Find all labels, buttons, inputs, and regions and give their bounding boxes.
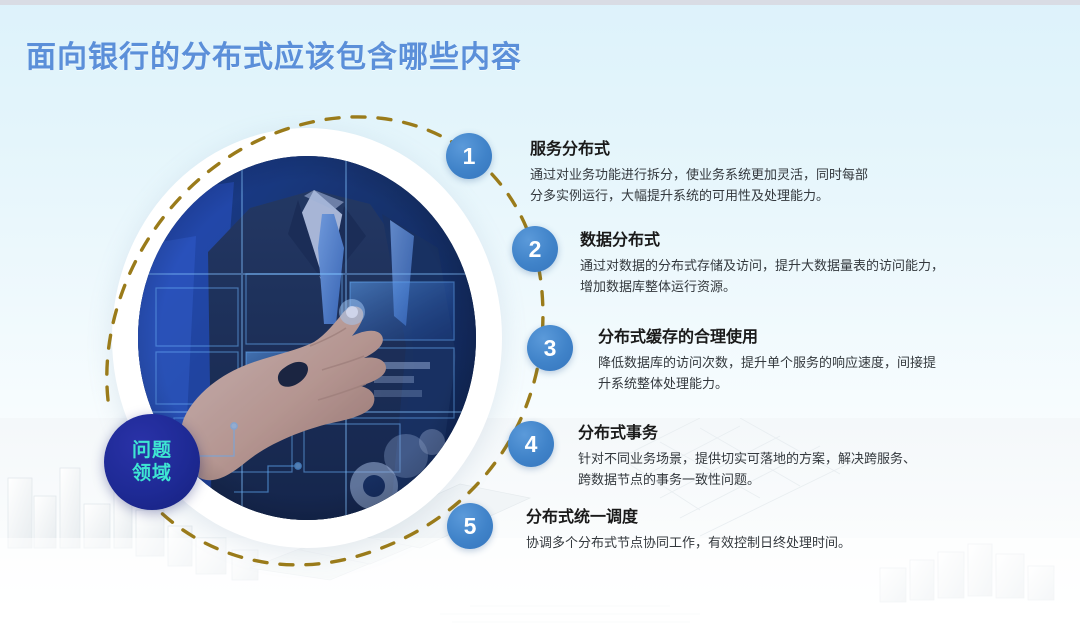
item-body-2: 通过对数据的分布式存储及访问，提升大数据量表的访问能力， 增加数据库整体运行资源…: [580, 255, 1000, 297]
top-edge-strip: [0, 0, 1080, 5]
item-text-2: 数据分布式 通过对数据的分布式存储及访问，提升大数据量表的访问能力， 增加数据库…: [580, 230, 1000, 297]
item-text-3: 分布式缓存的合理使用 降低数据库的访问次数，提升单个服务的响应速度，间接提 升系…: [598, 327, 998, 394]
number-badge-2: 2: [512, 226, 558, 272]
badge-line-1: 问题: [132, 439, 172, 462]
item-heading-3: 分布式缓存的合理使用: [598, 327, 998, 349]
page-title: 面向银行的分布式应该包含哪些内容: [26, 32, 522, 76]
items-list: 1 服务分布式 通过对业务功能进行拆分，使业务系统更加灵活，同时每部 分多实例运…: [0, 0, 1080, 628]
number-badge-3: 3: [527, 325, 573, 371]
slide-root: 面向银行的分布式应该包含哪些内容: [0, 0, 1080, 628]
item-text-1: 服务分布式 通过对业务功能进行拆分，使业务系统更加灵活，同时每部 分多实例运行，…: [530, 139, 930, 206]
item-body-4: 针对不同业务场景，提供切实可落地的方案，解决跨服务、 跨数据节点的事务一致性问题…: [578, 448, 978, 490]
number-badge-4: 4: [508, 421, 554, 467]
item-body-1: 通过对业务功能进行拆分，使业务系统更加灵活，同时每部 分多实例运行，大幅提升系统…: [530, 164, 930, 206]
item-heading-1: 服务分布式: [530, 139, 930, 161]
number-badge-1: 1: [446, 133, 492, 179]
center-badge: 问题 领域: [104, 414, 200, 510]
item-heading-5: 分布式统一调度: [526, 507, 946, 529]
item-text-4: 分布式事务 针对不同业务场景，提供切实可落地的方案，解决跨服务、 跨数据节点的事…: [578, 423, 978, 490]
item-heading-2: 数据分布式: [580, 230, 1000, 252]
number-badge-5: 5: [447, 503, 493, 549]
item-text-5: 分布式统一调度 协调多个分布式节点协同工作，有效控制日终处理时间。: [526, 507, 946, 553]
item-heading-4: 分布式事务: [578, 423, 978, 445]
item-body-3: 降低数据库的访问次数，提升单个服务的响应速度，间接提 升系统整体处理能力。: [598, 352, 998, 394]
badge-line-2: 领域: [132, 462, 172, 485]
item-body-5: 协调多个分布式节点协同工作，有效控制日终处理时间。: [526, 532, 946, 553]
